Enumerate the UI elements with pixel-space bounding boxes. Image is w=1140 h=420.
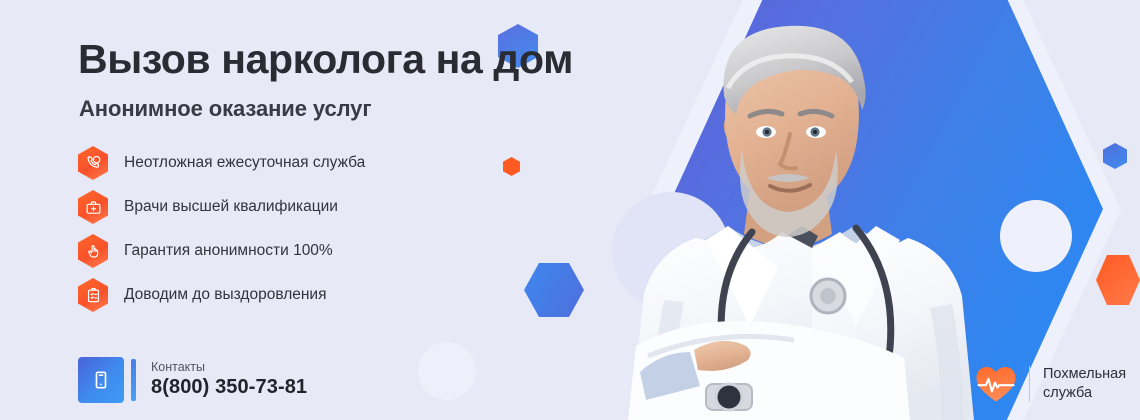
- hand-privacy-icon: [78, 234, 108, 268]
- list-item: Врачи высшей квалификации: [78, 185, 365, 229]
- hexagon-blue-right-decoration: [1103, 143, 1127, 169]
- list-item-label: Гарантия анонимности 100%: [124, 242, 333, 260]
- feature-list: Неотложная ежесуточная служба Врачи высш…: [78, 141, 365, 317]
- list-item: Неотложная ежесуточная служба: [78, 141, 365, 185]
- logo-divider: [1029, 366, 1030, 402]
- mobile-phone-icon: [78, 357, 124, 403]
- contacts-divider: [131, 359, 136, 401]
- content-column: Вызов нарколога на дом Анонимное оказани…: [78, 0, 598, 420]
- page-subtitle: Анонимное оказание услуг: [79, 96, 371, 122]
- logo-text-line1: Похмельная: [1043, 366, 1126, 382]
- list-item-label: Доводим до выздоровления: [124, 286, 326, 304]
- list-item-label: Врачи высшей квалификации: [124, 198, 338, 216]
- brand-logo[interactable]: Похмельная служба: [975, 364, 1126, 404]
- list-item: Гарантия анонимности 100%: [78, 229, 365, 273]
- heart-pulse-icon: [975, 364, 1017, 404]
- contacts-phone-number[interactable]: 8(800) 350-73-81: [151, 375, 307, 400]
- contacts-block[interactable]: Контакты 8(800) 350-73-81: [78, 357, 307, 403]
- hexagon-gradient-decoration: [667, 0, 1103, 420]
- circle-decoration-left: [612, 192, 730, 310]
- phone-24h-icon: [78, 146, 108, 180]
- clipboard-checklist-icon: [78, 278, 108, 312]
- hexagon-orange-right-decoration: [1096, 255, 1140, 305]
- contacts-text: Контакты 8(800) 350-73-81: [151, 360, 307, 401]
- logo-text-line2: служба: [1043, 385, 1092, 401]
- list-item: Доводим до выздоровления: [78, 273, 365, 317]
- doctor-portrait-image: [600, 0, 1020, 420]
- circle-decoration-right: [1000, 200, 1072, 272]
- hexagon-outline-decoration: [645, 0, 1121, 420]
- contacts-label: Контакты: [151, 360, 307, 376]
- list-item-label: Неотложная ежесуточная служба: [124, 154, 365, 172]
- medical-case-icon: [78, 190, 108, 224]
- page-title: Вызов нарколога на дом: [78, 36, 573, 83]
- promo-banner: Вызов нарколога на дом Анонимное оказани…: [0, 0, 1140, 420]
- logo-text: Похмельная служба: [1043, 365, 1126, 403]
